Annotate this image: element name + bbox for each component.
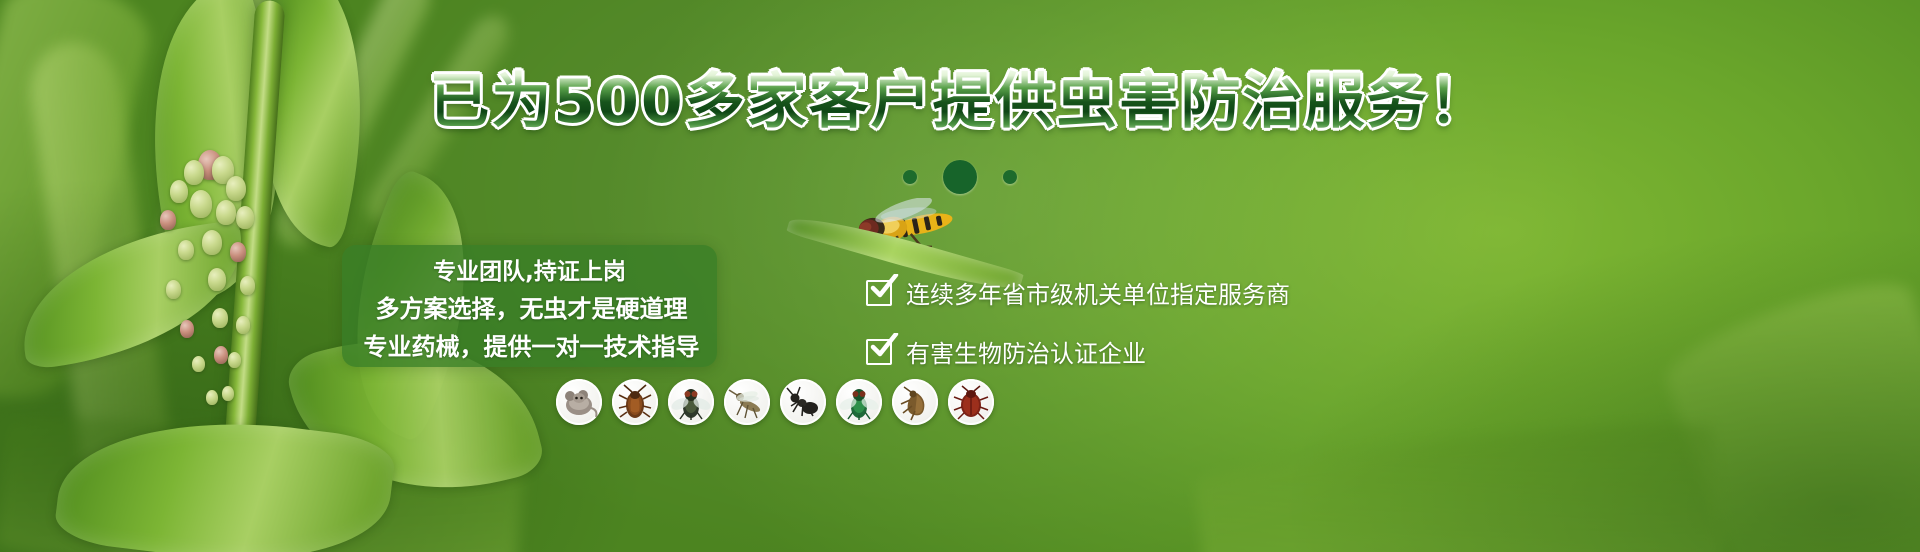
plant-bud [214, 346, 228, 364]
credential-label: 有害生物防治认证企业 [906, 334, 1146, 369]
plant-bud [208, 268, 226, 291]
plant-bud [206, 390, 218, 405]
credentials-list: 连续多年省市级机关单位指定服务商 有害生物防治认证企业 [866, 275, 1290, 369]
headline-dot-decoration [0, 160, 1920, 194]
headline-fill-layer: 已为500多家客户提供虫害防治服务！ [429, 67, 1490, 137]
check-tick-icon [869, 333, 899, 359]
plant-bud [240, 276, 255, 295]
slogan-panel-text: 专业团队,持证上岗 多方案选择，无虫才是硬道理 专业药械，提供一对一技术指导 [342, 245, 717, 367]
housefly-icon[interactable] [668, 379, 714, 425]
dot-small-right-icon [1003, 170, 1017, 184]
bedbug-icon[interactable] [948, 379, 994, 425]
plant-bud [222, 386, 234, 401]
credential-item: 连续多年省市级机关单位指定服务商 [866, 275, 1290, 310]
plant-bud [160, 210, 176, 230]
plant-bud [212, 308, 228, 328]
credential-label: 连续多年省市级机关单位指定服务商 [906, 275, 1290, 310]
mosquito-icon[interactable] [724, 379, 770, 425]
slogan-line-1: 专业团队,持证上岗 [342, 252, 717, 286]
plant-bud [190, 190, 212, 218]
hero-banner: 已为500多家客户提供虫害防治服务！ 已为500多家客户提供虫害防治服务！ 专业… [0, 0, 1920, 552]
checkbox-checked-icon [866, 280, 892, 306]
hoverfly-icon [845, 198, 965, 268]
plant-bud [236, 316, 250, 334]
ant-icon[interactable] [780, 379, 826, 425]
plant-bud [192, 356, 205, 372]
slogan-line-2: 多方案选择，无虫才是硬道理 [334, 289, 729, 324]
pest-icon-row [556, 379, 994, 425]
plant-bud [180, 320, 194, 338]
plant-flower-spike [120, 150, 340, 450]
cockroach-icon[interactable] [612, 379, 658, 425]
plant-bud [202, 230, 222, 255]
checkbox-checked-icon [866, 339, 892, 365]
plant-bud [178, 240, 194, 260]
slogan-line-3: 专业药械，提供一对一技术指导 [334, 327, 729, 362]
plant-bud [166, 280, 181, 299]
credential-item: 有害生物防治认证企业 [866, 334, 1290, 369]
banner-headline: 已为500多家客户提供虫害防治服务！ 已为500多家客户提供虫害防治服务！ [0, 72, 1920, 132]
dot-small-left-icon [903, 170, 917, 184]
dot-large-center-icon [943, 160, 977, 194]
check-tick-icon [869, 274, 899, 300]
flea-icon[interactable] [892, 379, 938, 425]
plant-bud [228, 352, 241, 368]
plant-bud [216, 200, 236, 225]
plant-bud [236, 206, 254, 229]
mouse-icon[interactable] [556, 379, 602, 425]
plant-bud [230, 242, 246, 262]
blowfly-icon[interactable] [836, 379, 882, 425]
